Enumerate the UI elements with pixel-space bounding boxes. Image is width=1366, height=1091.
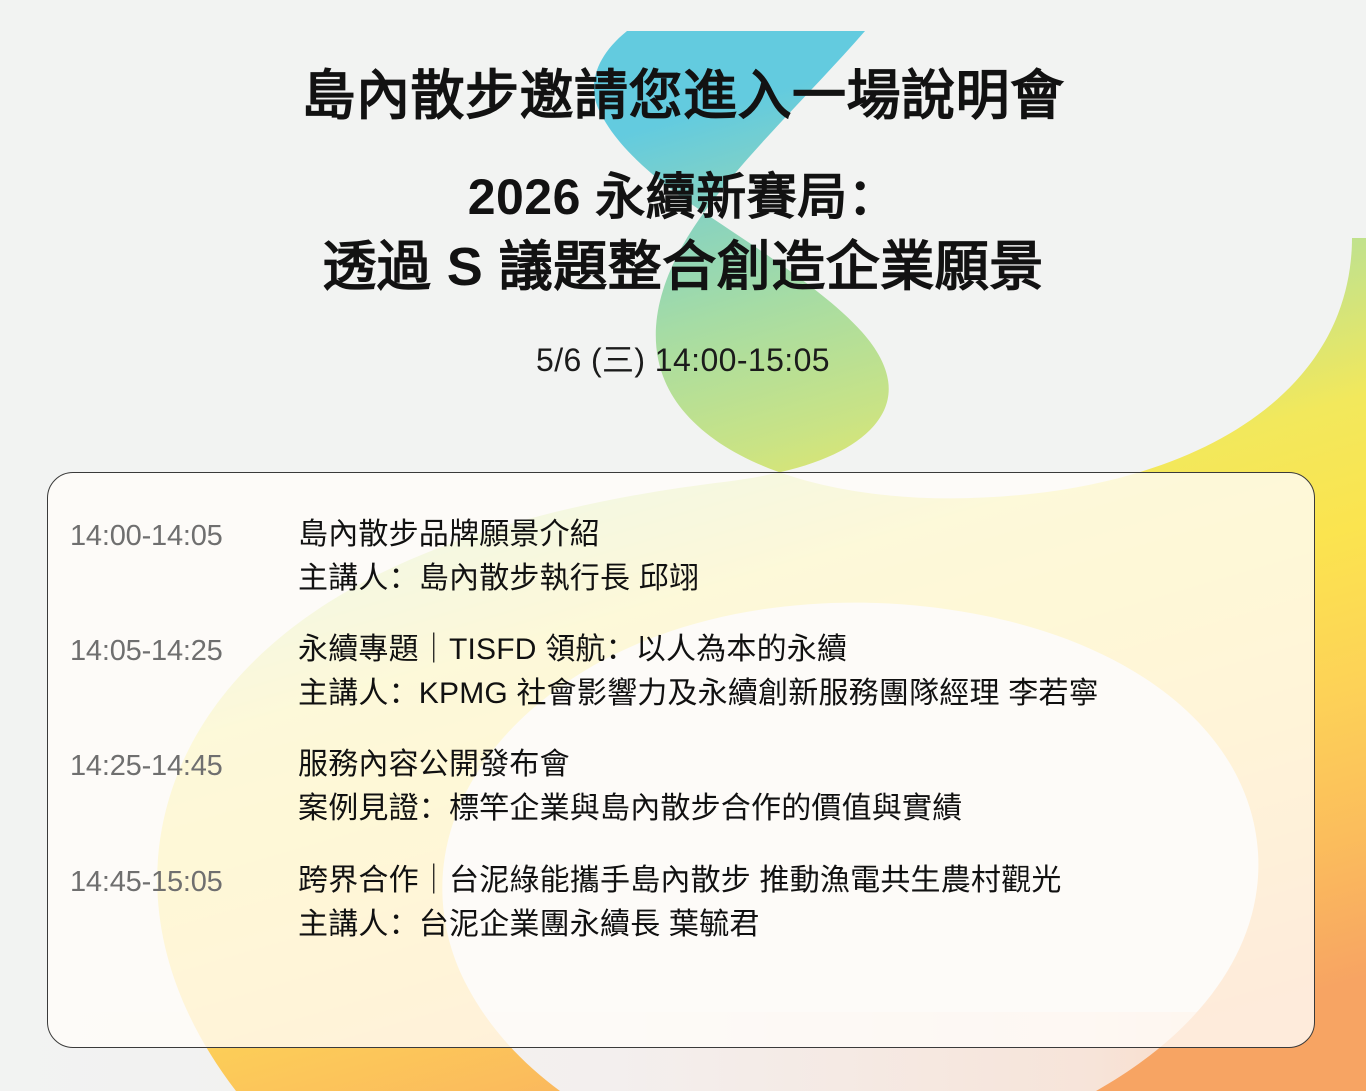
subtitle-line-1: 2026 永續新賽局： xyxy=(0,126,1366,226)
event-datetime: 5/6 (三) 14:00-15:05 xyxy=(0,299,1366,379)
poster-canvas: 島內散步邀請您進入一場說明會 2026 永續新賽局： 透過 S 議題整合創造企業… xyxy=(0,0,1366,1091)
schedule-row-speaker: 案例見證：標竿企業與島內散步合作的價值與實績 xyxy=(298,787,1286,831)
schedule-row-body: 永續專題｜TISFD 領航：以人為本的永續 主講人：KPMG 社會影響力及永續創… xyxy=(298,628,1286,716)
schedule-row-body: 島內散步品牌願景介紹 主講人：島內散步執行長 邱翊 xyxy=(298,513,1286,601)
schedule-row-time: 14:05-14:25 xyxy=(70,628,298,673)
schedule-row-speaker: 主講人：島內散步執行長 邱翊 xyxy=(298,557,1286,601)
schedule-row-time: 14:00-14:05 xyxy=(70,513,298,558)
schedule-row: 14:25-14:45 服務內容公開發布會 案例見證：標竿企業與島內散步合作的價… xyxy=(70,743,1286,831)
poster-header: 島內散步邀請您進入一場說明會 2026 永續新賽局： 透過 S 議題整合創造企業… xyxy=(0,0,1366,379)
schedule-row-body: 跨界合作｜台泥綠能攜手島內散步 推動漁電共生農村觀光 主講人：台泥企業團永續長 … xyxy=(298,859,1286,947)
schedule-row-title: 島內散步品牌願景介紹 xyxy=(298,513,1286,557)
schedule-row-speaker: 主講人：KPMG 社會影響力及永續創新服務團隊經理 李若寧 xyxy=(298,672,1286,716)
schedule-row-speaker: 主講人：台泥企業團永續長 葉毓君 xyxy=(298,903,1286,947)
schedule-row-time: 14:45-15:05 xyxy=(70,859,298,904)
schedule-row: 14:45-15:05 跨界合作｜台泥綠能攜手島內散步 推動漁電共生農村觀光 主… xyxy=(70,859,1286,947)
schedule-card: 14:00-14:05 島內散步品牌願景介紹 主講人：島內散步執行長 邱翊 14… xyxy=(47,472,1315,1048)
schedule-row-body: 服務內容公開發布會 案例見證：標竿企業與島內散步合作的價值與實績 xyxy=(298,743,1286,831)
schedule-row: 14:05-14:25 永續專題｜TISFD 領航：以人為本的永續 主講人：KP… xyxy=(70,628,1286,716)
schedule-row-title: 跨界合作｜台泥綠能攜手島內散步 推動漁電共生農村觀光 xyxy=(298,859,1286,903)
schedule-row-title: 服務內容公開發布會 xyxy=(298,743,1286,787)
subtitle-line-2: 透過 S 議題整合創造企業願景 xyxy=(0,226,1366,299)
schedule-row-time: 14:25-14:45 xyxy=(70,743,298,788)
schedule-row: 14:00-14:05 島內散步品牌願景介紹 主講人：島內散步執行長 邱翊 xyxy=(70,513,1286,601)
page-title: 島內散步邀請您進入一場說明會 xyxy=(0,0,1366,126)
schedule-row-title: 永續專題｜TISFD 領航：以人為本的永續 xyxy=(298,628,1286,672)
